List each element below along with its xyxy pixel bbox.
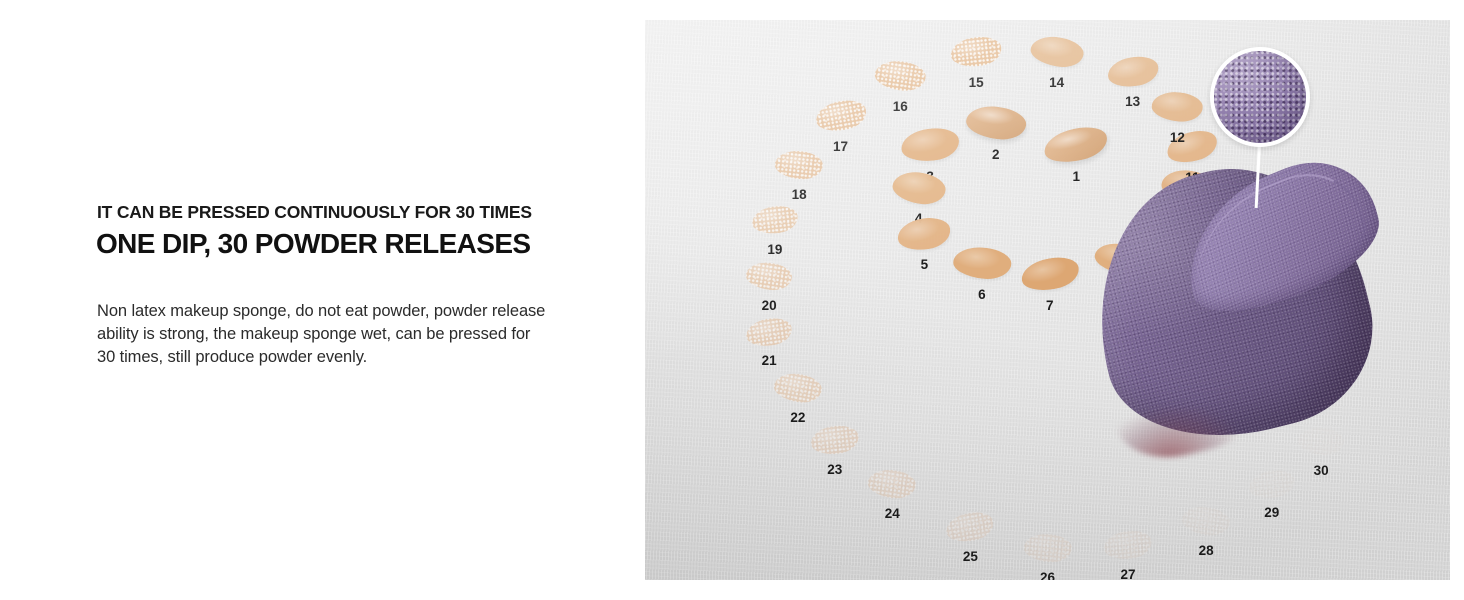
powder-stamp: [1022, 531, 1073, 564]
powder-stamp: [964, 103, 1028, 143]
page-root: IT CAN BE PRESSED CONTINUOUSLY FOR 30 TI…: [0, 0, 1464, 600]
powder-swatch-number: 1: [1072, 169, 1080, 184]
powder-stamp: [1180, 503, 1232, 539]
powder-swatch-number: 11: [1185, 170, 1199, 185]
powder-swatch-number: 13: [1125, 94, 1140, 109]
text-pane: IT CAN BE PRESSED CONTINUOUSLY FOR 30 TI…: [0, 0, 645, 600]
powder-stamp: [890, 168, 947, 208]
powder-swatch-number: 29: [1264, 505, 1279, 520]
powder-swatch-number: 9: [1162, 251, 1170, 266]
powder-swatch-number: 20: [762, 298, 777, 313]
product-photo: 1234567891011121314151617181920212223242…: [645, 20, 1450, 580]
powder-stamp: [751, 204, 800, 236]
powder-stamp: [813, 97, 868, 135]
powder-swatch-number: 8: [1117, 282, 1125, 297]
powder-swatch-number: 16: [893, 99, 908, 114]
powder-swatch-number: 5: [921, 257, 929, 272]
powder-stamp: [774, 149, 825, 182]
powder-stamp: [949, 35, 1002, 70]
powder-swatch-number: 10: [1180, 209, 1195, 224]
powder-stamp: [900, 126, 961, 164]
powder-stamp: [896, 215, 953, 253]
powder-swatch-number: 19: [767, 242, 782, 257]
eyebrow-heading: IT CAN BE PRESSED CONTINUOUSLY FOR 30 TI…: [97, 202, 532, 223]
powder-stamp: [1247, 468, 1296, 501]
powder-swatch-grid: 1234567891011121314151617181920212223242…: [645, 20, 1450, 580]
powder-swatch-number: 27: [1120, 567, 1135, 580]
sponge-texture-magnifier: [1210, 47, 1310, 147]
powder-stamp: [1103, 528, 1154, 561]
powder-stamp: [1019, 254, 1081, 294]
powder-stamp: [944, 509, 996, 545]
powder-swatch-number: 25: [963, 549, 978, 564]
powder-stamp: [1105, 53, 1159, 89]
powder-swatch-number: 28: [1199, 543, 1214, 558]
powder-swatch-number: 26: [1040, 570, 1055, 580]
powder-stamp: [1041, 123, 1111, 168]
body-paragraph: Non latex makeup sponge, do not eat powd…: [97, 300, 549, 369]
powder-swatch-number: 18: [792, 187, 807, 202]
powder-swatch-number: 23: [827, 462, 842, 477]
powder-swatch-number: 17: [833, 139, 848, 154]
powder-swatch-number: 30: [1314, 463, 1329, 478]
page-title: ONE DIP, 30 POWDER RELEASES: [96, 228, 531, 260]
powder-stamp: [1297, 426, 1346, 457]
powder-swatch-number: 15: [969, 75, 984, 90]
powder-swatch-number: 14: [1049, 75, 1064, 90]
powder-swatch-number: 6: [978, 287, 986, 302]
powder-swatch-number: 21: [762, 353, 777, 368]
powder-stamp: [745, 260, 794, 293]
powder-swatch-number: 22: [790, 410, 805, 425]
powder-swatch-number: 7: [1046, 298, 1054, 313]
powder-swatch-number: 24: [885, 506, 900, 521]
powder-stamp: [866, 467, 918, 501]
powder-stamp: [1028, 33, 1085, 71]
powder-stamp: [745, 315, 794, 348]
powder-stamp: [809, 424, 860, 457]
powder-swatch-number: 2: [992, 147, 1000, 162]
powder-swatch-number: 12: [1170, 130, 1185, 145]
powder-stamp: [1151, 90, 1204, 125]
powder-stamp: [1092, 240, 1150, 280]
powder-stamp: [952, 245, 1012, 282]
powder-stamp: [873, 58, 927, 94]
powder-stamp: [772, 370, 824, 406]
